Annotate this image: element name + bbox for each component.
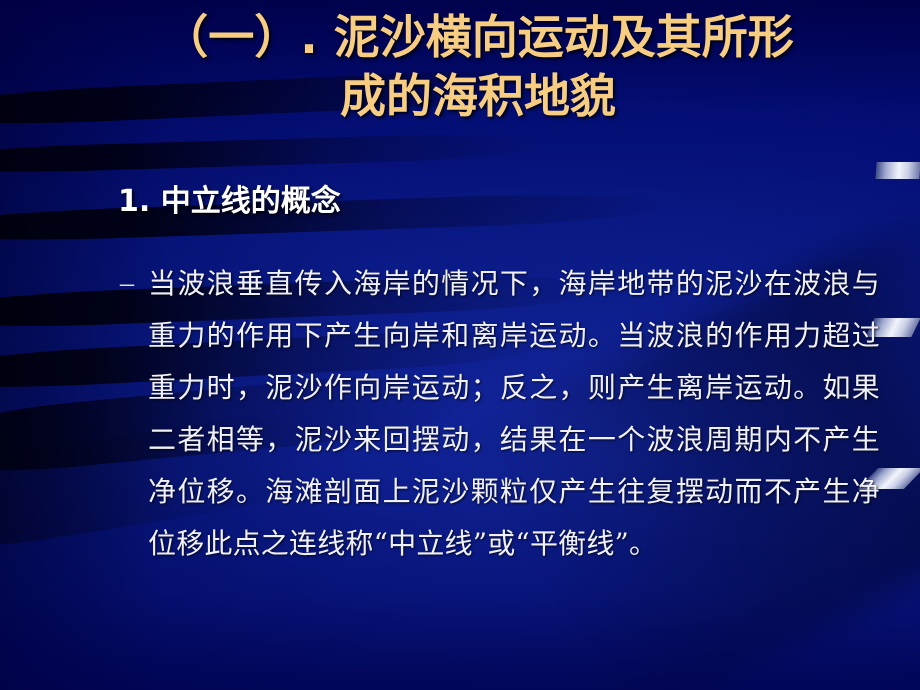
slide-subtitle: 1. 中立线的概念 — [118, 182, 341, 222]
bullet-dash-marker: – — [120, 258, 148, 310]
presentation-slide: （一）. 泥沙横向运动及其所形 成的海积地貌 1. 中立线的概念 – 当波浪垂直… — [0, 0, 920, 690]
bullet-list-item: – 当波浪垂直传入海岸的情况下，海岸地带的泥沙在波浪与重力的作用下产生向岸和离岸… — [120, 258, 880, 570]
decorative-metallic-mark-1 — [875, 162, 920, 179]
slide-body: – 当波浪垂直传入海岸的情况下，海岸地带的泥沙在波浪与重力的作用下产生向岸和离岸… — [120, 258, 880, 570]
bullet-paragraph-text: 当波浪垂直传入海岸的情况下，海岸地带的泥沙在波浪与重力的作用下产生向岸和离岸运动… — [148, 258, 880, 570]
slide-title: （一）. 泥沙横向运动及其所形 成的海积地貌 — [118, 8, 838, 126]
